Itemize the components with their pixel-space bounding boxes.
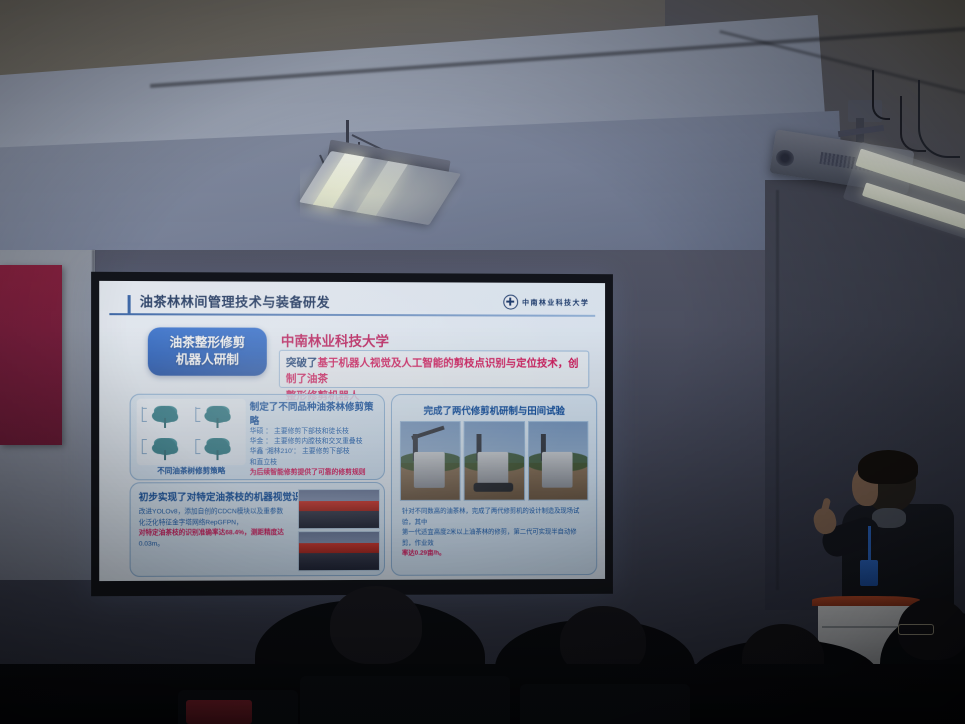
- strategy-text-block: 制定了不同品种油茶林修剪策略 华硕 ： 主要修剪下部枝和徒长枝 华金 ： 主要修…: [250, 399, 378, 478]
- vision-line-0: 改进YOLOv8，添加自创的CDCN模块以及重参数: [139, 507, 288, 518]
- tree-scale-2: [195, 407, 196, 422]
- panel-field-trials: 完成了两代修剪机研制与田间试验: [391, 394, 597, 576]
- university-logo: 中南林业科技大学: [503, 295, 589, 310]
- vision-panel-title: 初步实现了对特定油茶枝的机器视觉识别: [139, 489, 320, 503]
- trial-line-2: 率达0.29亩/h。: [402, 548, 586, 559]
- robot-photo-2: [464, 421, 525, 501]
- vision-line-1: 化泛化特征金字塔网络RepGFPN，: [139, 518, 288, 529]
- red-wall-banner: [0, 265, 62, 445]
- vision-photo-2: [298, 531, 380, 571]
- fluorescent-tube-1: [313, 153, 365, 208]
- strategy-line-4: 为后续智能修剪提供了可靠的修剪规则: [250, 468, 378, 478]
- title-accent-bar: [128, 295, 131, 313]
- photo-foliage: [299, 553, 379, 570]
- photo-detection-overlay: [299, 543, 379, 553]
- ceiling-cable-3: [872, 70, 890, 120]
- tree-tick: [195, 453, 200, 454]
- tree-scale-4: [195, 439, 196, 454]
- university-name: 中南林业科技大学: [281, 330, 389, 350]
- topic-badge-line2: 机器人研制: [176, 352, 239, 369]
- photo-foliage: [299, 511, 379, 528]
- robot-body: [542, 452, 572, 488]
- wall-seam-right: [776, 190, 779, 590]
- panel-vision-recognition: 初步实现了对特定油茶枝的机器视觉识别 改进YOLOv8，添加自创的CDCN模块以…: [130, 482, 385, 577]
- strategy-line-0: 华硕 ： 主要修剪下部枝和徒长枝: [250, 427, 378, 437]
- audience-head-1: [330, 586, 422, 664]
- topic-badge-line1: 油茶整形修剪: [170, 335, 246, 352]
- tree-diagram-3: [139, 432, 191, 463]
- tree-diagram-2: [192, 401, 244, 432]
- tree-tick: [142, 453, 147, 454]
- statement-prefix: 突破了: [286, 357, 318, 369]
- tree-diagram-1: [139, 401, 191, 432]
- field-trial-photos: [400, 421, 588, 501]
- presenter-hair: [858, 450, 918, 484]
- field-trial-title: 完成了两代修剪机研制与田间试验: [404, 403, 584, 417]
- fluorescent-tube-2: [356, 161, 408, 216]
- photo-sky: [299, 490, 379, 502]
- chair-back-2: [300, 676, 510, 724]
- vision-line-2: 对特定油茶枝的识别准确率达68.4%，测距精度达: [139, 528, 288, 539]
- tree-scale-1: [142, 407, 143, 422]
- slide-header: 油茶林林间管理技术与装备研发 中南林业科技大学: [109, 287, 595, 317]
- presenter-badge: [860, 560, 878, 586]
- tree-diagram-4: [192, 432, 244, 463]
- statement-main: 基于机器人视觉及人工智能的剪枝点识别与定位技术，创制了油茶: [286, 357, 579, 385]
- strategy-line-1: 华金 ： 主要修剪内膛枝和交叉重叠枝: [250, 437, 378, 447]
- field-trial-body: 针对不同数高的油茶林，完成了两代修剪机的设计制造及现场试验，其中 第一代适宜高度…: [402, 507, 586, 560]
- projection-screen[interactable]: 油茶林林间管理技术与装备研发 中南林业科技大学 油茶整形修剪 机器人研制 中南林…: [91, 272, 613, 596]
- slide-title: 油茶林林间管理技术与装备研发: [140, 291, 330, 311]
- logo-emblem-icon: [503, 295, 518, 310]
- robot-photo-1: [400, 421, 461, 501]
- trial-line-1: 第一代适宜高度2米以上油茶林的修剪，第二代可实现半自动修剪，作业效: [402, 527, 586, 549]
- ceiling-light-fixture: [300, 120, 470, 240]
- ceiling-cable-2: [918, 80, 960, 158]
- tree-tick: [195, 421, 200, 422]
- strategy-caption: 制定了不同品种油茶林修剪策略: [250, 399, 378, 427]
- tree-scale-3: [142, 439, 143, 454]
- topic-badge: 油茶整形修剪 机器人研制: [148, 327, 267, 375]
- tree-tick: [142, 439, 147, 440]
- strategy-line-3: 和直立枝: [250, 458, 378, 468]
- tree-figure-caption: 不同油茶树修剪策略: [141, 465, 242, 476]
- tree-trunk: [164, 450, 166, 460]
- tree-tick: [195, 439, 200, 440]
- logo-label: 中南林业科技大学: [522, 297, 589, 307]
- photo-sky: [299, 532, 379, 544]
- strategy-line-2: 华鑫 ‘湘林210’： 主要修剪下部枝: [250, 447, 378, 457]
- key-statement-box: 突破了基于机器人视觉及人工智能的剪枝点识别与定位技术，创制了油茶 整形修剪机器人: [279, 350, 589, 388]
- tree-tick: [195, 408, 200, 409]
- vision-panel-body: 改进YOLOv8，添加自创的CDCN模块以及重参数 化泛化特征金字塔网络RepG…: [139, 507, 288, 550]
- robot-body: [414, 452, 445, 488]
- robot-track: [473, 483, 513, 492]
- audience-glasses: [898, 624, 934, 635]
- presentation-slide: 油茶林林间管理技术与装备研发 中南林业科技大学 油茶整形修剪 机器人研制 中南林…: [99, 281, 605, 581]
- chair-back-3: [520, 684, 690, 724]
- vision-photo-1: [298, 489, 380, 529]
- presenter-lanyard: [868, 526, 871, 562]
- lectern-top-edge: [812, 596, 920, 606]
- lecture-room-scene: 油茶林林间管理技术与装备研发 中南林业科技大学 油茶整形修剪 机器人研制 中南林…: [0, 0, 965, 724]
- panel-pruning-strategy: 不同油茶树修剪策略 制定了不同品种油茶林修剪策略 华硕 ： 主要修剪下部枝和徒长…: [130, 394, 385, 481]
- trial-line-0: 针对不同数高的油茶林，完成了两代修剪机的设计制造及现场试验，其中: [402, 507, 586, 528]
- tree-tick: [142, 421, 147, 422]
- tree-tick: [142, 408, 147, 409]
- vision-line-3: 0.03m。: [139, 539, 288, 550]
- robot-photo-3: [528, 421, 589, 501]
- tree-trunk: [217, 418, 219, 428]
- tree-diagram-grid: [137, 399, 246, 465]
- red-seat-cushion: [186, 700, 252, 724]
- tree-trunk: [164, 418, 166, 428]
- photo-detection-overlay: [299, 501, 379, 511]
- tree-trunk: [217, 450, 219, 460]
